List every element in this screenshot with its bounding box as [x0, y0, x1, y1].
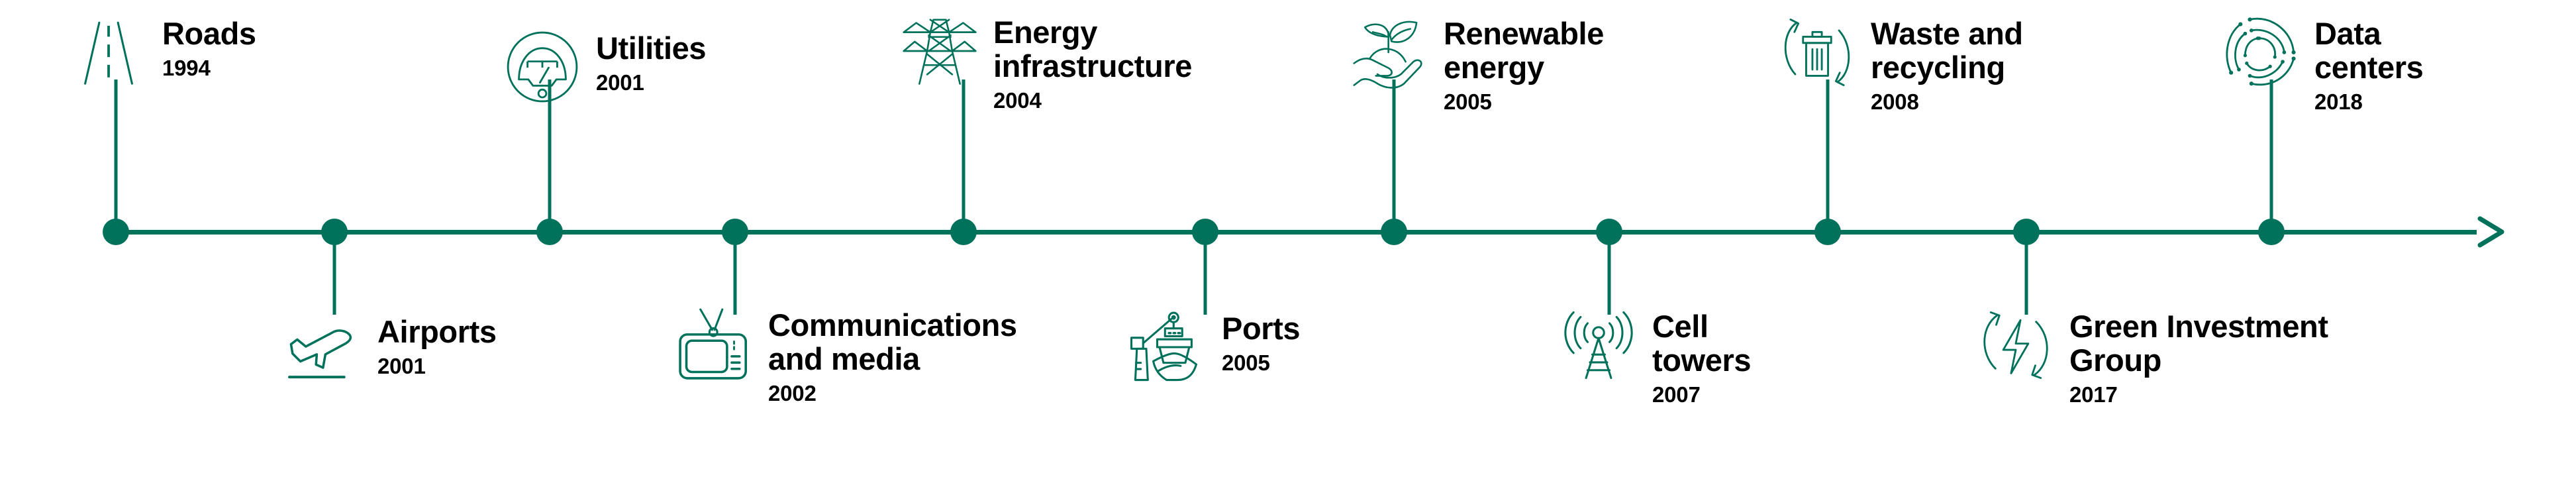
timeline-entry-year: 2002 — [768, 380, 1017, 407]
arrow-right-icon — [2450, 212, 2510, 252]
timeline-axis-line — [116, 230, 2477, 235]
timeline-entry-waste-and-recycling[interactable]: Waste and recycling2008 — [1778, 13, 2023, 115]
retro-television-icon — [675, 305, 754, 383]
timeline-entry-year: 2001 — [377, 353, 497, 380]
timeline-entry-text: Airports2001 — [377, 311, 497, 379]
timeline-entry-title: Ports — [1222, 312, 1300, 346]
port-crane-ship-icon — [1129, 308, 1207, 386]
timeline-entry-year: 2017 — [2069, 382, 2328, 408]
timeline-entry-title: Energy infrastructure — [993, 16, 1192, 83]
timeline-entry-title: Airports — [377, 315, 497, 349]
data-network-icon — [2222, 13, 2300, 91]
timeline-entry-airports[interactable]: Airports2001 — [285, 311, 497, 390]
timeline-entry-year: 2001 — [596, 70, 706, 96]
timeline-entry-communications-and-media[interactable]: Communications and media2002 — [675, 305, 1017, 406]
timeline-entry-title: Utilities — [596, 32, 706, 66]
timeline-entry-roads[interactable]: Roads1994 — [70, 13, 256, 91]
timeline-infographic: Roads1994 Airports2001 Utilities2001 Com… — [0, 0, 2576, 477]
timeline-stem-airports — [333, 232, 336, 315]
electricity-pylon-icon — [901, 12, 979, 90]
timeline-entry-data-centers[interactable]: Data centers2018 — [2222, 13, 2423, 115]
timeline-entry-title: Renewable energy — [1444, 17, 1604, 85]
timeline-entry-renewable-energy[interactable]: Renewable energy2005 — [1351, 13, 1604, 115]
timeline-entry-utilities[interactable]: Utilities2001 — [503, 28, 706, 106]
timeline-stem-green-investment-group — [2025, 232, 2028, 315]
hand-sprout-icon — [1351, 13, 1429, 91]
timeline-entry-title: Green Investment Group — [2069, 310, 2328, 378]
timeline-entry-year: 2004 — [993, 87, 1192, 114]
timeline-entry-energy-infrastructure[interactable]: Energy infrastructure2004 — [901, 12, 1192, 113]
radio-tower-icon — [1560, 306, 1638, 384]
timeline-entry-year: 1994 — [162, 55, 256, 81]
timeline-entry-text: Renewable energy2005 — [1444, 13, 1604, 115]
timeline-entry-year: 2007 — [1652, 382, 1751, 408]
timeline-entry-text: Cell towers2007 — [1652, 306, 1751, 407]
timeline-entry-text: Roads1994 — [162, 13, 256, 81]
timeline-stem-cell-towers — [1608, 232, 1611, 315]
timeline-entry-cell-towers[interactable]: Cell towers2007 — [1560, 306, 1751, 407]
energy-cycle-icon — [1977, 306, 2055, 384]
timeline-entry-year: 2005 — [1444, 89, 1604, 115]
timeline-entry-text: Green Investment Group2017 — [2069, 306, 2328, 407]
timeline-entry-title: Waste and recycling — [1871, 17, 2023, 85]
timeline-entry-title: Data centers — [2314, 17, 2423, 85]
recycle-bin-icon — [1778, 13, 1856, 91]
timeline-entry-text: Utilities2001 — [596, 28, 706, 95]
timeline-entry-text: Energy infrastructure2004 — [993, 12, 1192, 113]
timeline-stem-roads — [115, 79, 118, 232]
timeline-entry-text: Waste and recycling2008 — [1871, 13, 2023, 115]
road-icon — [70, 13, 148, 91]
timeline-entry-title: Communications and media — [768, 309, 1017, 376]
timeline-entry-ports[interactable]: Ports2005 — [1129, 308, 1300, 386]
timeline-entry-title: Roads — [162, 17, 256, 51]
timeline-entry-year: 2018 — [2314, 89, 2423, 115]
timeline-entry-year: 2005 — [1222, 350, 1300, 376]
timeline-entry-year: 2008 — [1871, 89, 2023, 115]
timeline-entry-green-investment-group[interactable]: Green Investment Group2017 — [1977, 306, 2328, 407]
timeline-entry-text: Ports2005 — [1222, 308, 1300, 376]
timeline-entry-title: Cell towers — [1652, 310, 1751, 378]
timeline-entry-text: Communications and media2002 — [768, 305, 1017, 406]
timeline-entry-text: Data centers2018 — [2314, 13, 2423, 115]
timeline-stem-ports — [1204, 232, 1207, 315]
airplane-icon — [285, 311, 363, 390]
gauge-meter-icon — [503, 28, 581, 106]
timeline-stem-communications-and-media — [734, 232, 737, 315]
